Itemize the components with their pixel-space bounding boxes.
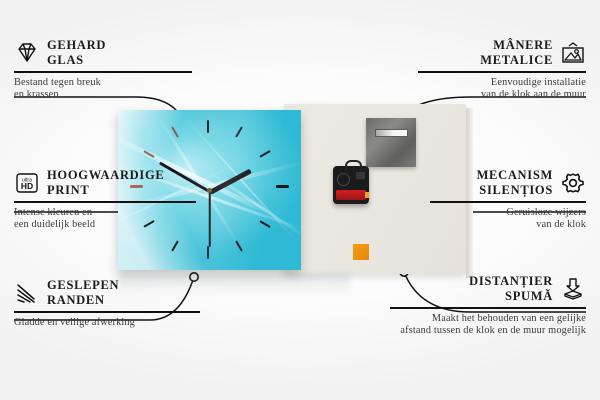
divider — [430, 201, 586, 203]
feature-title-line1: MECANISM — [477, 168, 553, 183]
picture-frame-icon — [560, 41, 586, 65]
feature-title-line2: SPUMĂ — [469, 289, 553, 304]
feature-title-line1: HOOGWAARDIGE — [47, 168, 164, 183]
battery — [336, 190, 366, 200]
feature-subtitle-line2: en krassen — [14, 89, 192, 102]
feature-subtitle-line2: van de klok — [430, 219, 586, 232]
feature-title-line1: DISTANȚIER — [469, 274, 553, 289]
foam-spacer — [353, 244, 369, 260]
feature-title-line1: MÂNERE — [480, 38, 553, 53]
feature-title-line1: GESLEPEN — [47, 278, 119, 293]
feature-subtitle-line2: van de klok aan de muur — [418, 89, 586, 102]
mechanism-chip — [356, 172, 365, 179]
infographic-canvas: GEHARD GLAS Bestand tegen breuk en krass… — [0, 0, 600, 400]
feature-subtitle-line2: een duidelijk beeld — [14, 219, 196, 232]
svg-text:HD: HD — [21, 181, 33, 191]
feature-title-line2: GLAS — [47, 53, 106, 68]
diagonal-lines-icon — [14, 281, 40, 305]
feature-manere-metalice: MÂNERE METALICE Eenvoudige installatie v… — [418, 38, 586, 102]
mechanism-dial — [337, 173, 350, 186]
hanger-slot — [375, 129, 408, 137]
feature-title-line2: METALICE — [480, 53, 553, 68]
clock-mechanism — [333, 166, 369, 204]
feature-gehard-glas: GEHARD GLAS Bestand tegen breuk en krass… — [14, 38, 192, 102]
feature-subtitle-line1: Geruisloze wijzers — [430, 207, 586, 220]
divider — [14, 311, 200, 313]
feature-subtitle-line1: Gladde en veilige afwerking — [14, 317, 200, 330]
gear-icon — [560, 171, 586, 195]
diamond-icon — [14, 41, 40, 65]
feature-distantier-spuma: DISTANȚIER SPUMĂ Maakt het behouden van … — [390, 274, 586, 338]
ultra-hd-icon: ultra HD — [14, 171, 40, 195]
feature-hoogwaardige-print: ultra HD HOOGWAARDIGE PRINT Intense kleu… — [14, 168, 196, 232]
feature-subtitle-line2: afstand tussen de klok en de muur mogeli… — [390, 325, 586, 338]
feature-subtitle-line1: Bestand tegen breuk — [14, 77, 192, 90]
feature-title-line2: RANDEN — [47, 293, 119, 308]
divider — [14, 201, 196, 203]
divider — [418, 71, 586, 73]
feature-title-line2: PRINT — [47, 183, 164, 198]
feature-title-line1: GEHARD — [47, 38, 106, 53]
divider — [14, 71, 192, 73]
feature-subtitle-line1: Intense kleuren en — [14, 207, 196, 220]
feature-title-line2: SILENȚIOS — [477, 183, 553, 198]
layers-down-arrow-icon — [560, 277, 586, 301]
feature-subtitle-line1: Maakt het behouden van een gelijke — [390, 313, 586, 326]
feature-subtitle-line1: Eenvoudige installatie — [418, 77, 586, 90]
feature-geslepen-randen: GESLEPEN RANDEN Gladde en veilige afwerk… — [14, 278, 200, 329]
mechanism-hook — [345, 160, 362, 171]
feature-mecanism-silentios: MECANISM SILENȚIOS Geruisloze wijzers va… — [430, 168, 586, 232]
divider — [390, 307, 586, 309]
metal-hanger-plate — [366, 118, 416, 167]
